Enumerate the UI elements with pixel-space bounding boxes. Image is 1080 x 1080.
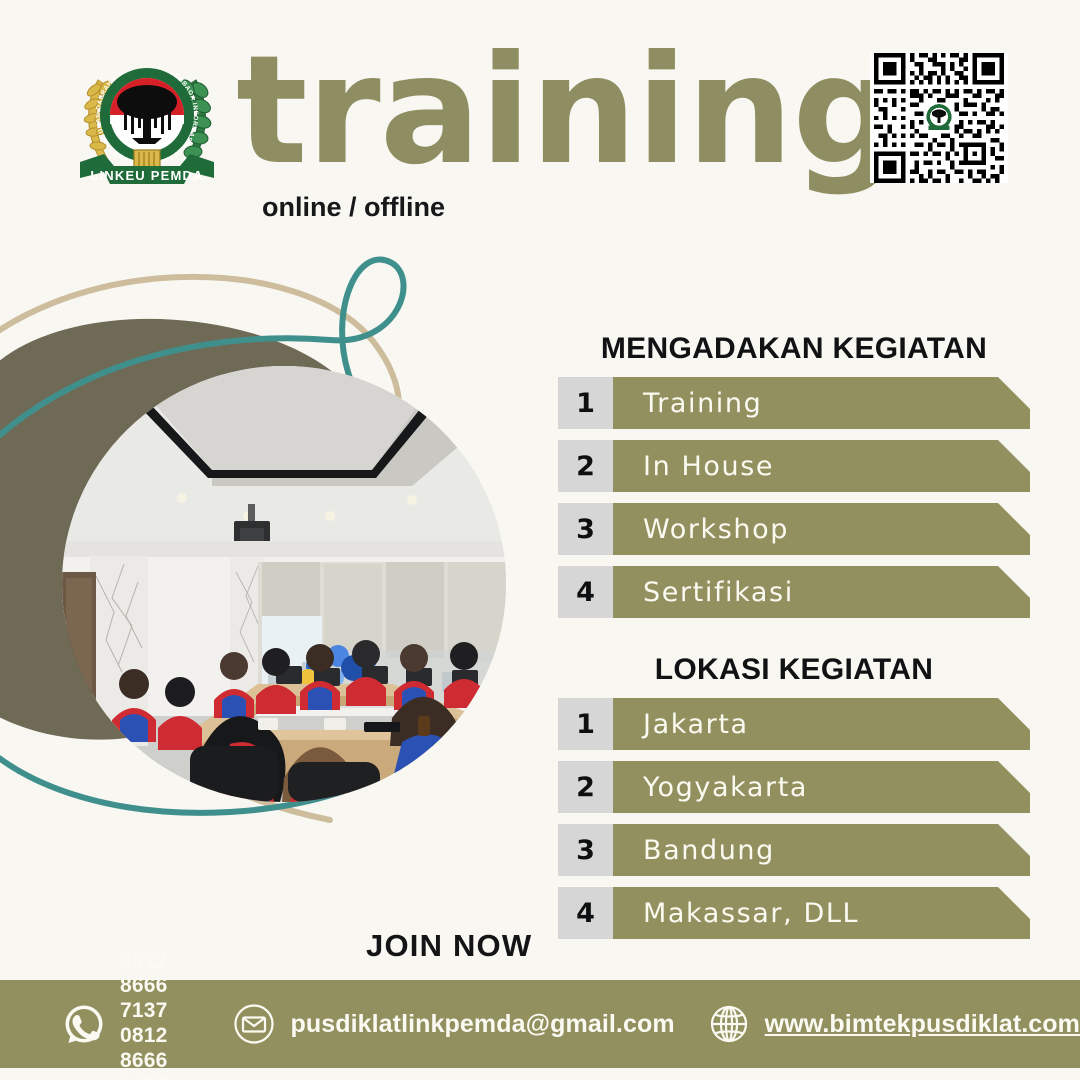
list-item-number: 4 [558,566,613,618]
list-item-number: 3 [558,824,613,876]
join-now-label[interactable]: JOIN NOW [366,928,532,964]
list-item-number: 2 [558,761,613,813]
list-item-label: Bandung [613,824,1030,876]
whatsapp-number-2: 0812 8666 3857 [120,1024,186,1080]
list-item[interactable]: 2 Yogyakarta [558,761,1030,813]
qr-code[interactable] [870,53,1008,183]
list-item[interactable]: 4 Makassar, DLL [558,887,1030,939]
organization-logo: LEMBAGA INFORMASI KEUANGAN DAN PEMBANGUN… [74,42,220,192]
whatsapp-contact[interactable]: 0812 8666 7137 0812 8666 3857 [62,950,186,1080]
logo-ribbon-text: LINKEU PEMDA [90,168,203,183]
poster-canvas: LEMBAGA INFORMASI KEUANGAN DAN PEMBANGUN… [0,0,1080,1080]
list-item-label: Sertifikasi [613,566,1030,618]
list-item[interactable]: 3 Workshop [558,503,1030,555]
list-item-label: Yogyakarta [613,761,1030,813]
section-heading: MENGADAKAN KEGIATAN [558,332,1030,366]
section-mengadakan-kegiatan: MENGADAKAN KEGIATAN 1 Training 2 In Hous… [558,332,1030,629]
globe-icon [707,1002,751,1046]
contact-footer: 0812 8666 7137 0812 8666 3857 pusdiklatl… [0,980,1080,1068]
list-item-number: 2 [558,440,613,492]
list-item-label: Workshop [613,503,1030,555]
qr-center-logo [923,102,954,133]
list-item-label: Training [613,377,1030,429]
list-item-label: Jakarta [613,698,1030,750]
list-item-label: In House [613,440,1030,492]
page-title: training [236,36,899,186]
list-item[interactable]: 2 In House [558,440,1030,492]
list-item-number: 3 [558,503,613,555]
email-address: pusdiklatlinkpemda@gmail.com [290,1010,674,1039]
list-item-number: 1 [558,698,613,750]
email-contact[interactable]: pusdiklatlinkpemda@gmail.com [232,1002,674,1046]
list-item[interactable]: 4 Sertifikasi [558,566,1030,618]
section-lokasi-kegiatan: LOKASI KEGIATAN 1 Jakarta 2 Yogyakarta 3… [558,653,1030,950]
list-item-number: 1 [558,377,613,429]
website-contact[interactable]: www.bimtekpusdiklat.com [707,1002,1080,1046]
list-item-number: 4 [558,887,613,939]
list-item-label: Makassar, DLL [613,887,1030,939]
envelope-icon [232,1002,276,1046]
website-url[interactable]: www.bimtekpusdiklat.com [765,1010,1080,1039]
whatsapp-number-1: 0812 8666 7137 [120,950,186,1024]
whatsapp-icon [62,1002,106,1046]
list-item[interactable]: 1 Jakarta [558,698,1030,750]
section-heading: LOKASI KEGIATAN [558,653,1030,687]
page-subtitle: online / offline [262,192,445,223]
whatsapp-numbers: 0812 8666 7137 0812 8666 3857 [120,950,186,1080]
list-item[interactable]: 1 Training [558,377,1030,429]
list-item[interactable]: 3 Bandung [558,824,1030,876]
training-room-photo [62,366,506,802]
